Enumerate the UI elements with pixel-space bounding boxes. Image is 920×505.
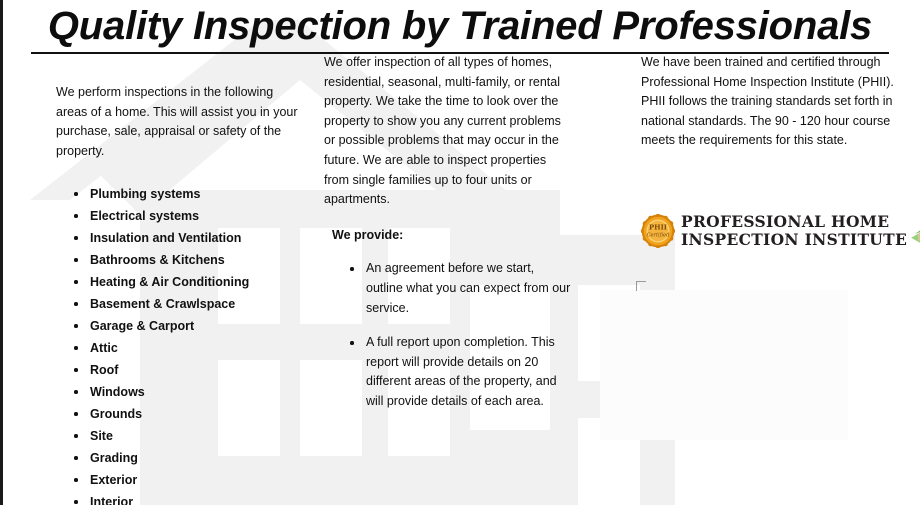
- we-provide-heading: We provide:: [332, 226, 574, 246]
- phii-logo-line-1: PROFESSIONAL HOME: [681, 213, 907, 231]
- list-item: Exterior: [56, 469, 306, 491]
- list-item: Heating & Air Conditioning: [56, 271, 306, 293]
- document-page: Quality Inspection by Trained Profession…: [0, 0, 920, 505]
- phii-logo-line-2: INSPECTION INSTITUTE: [681, 231, 907, 249]
- certification-seal-icon: PHII Certified: [641, 214, 675, 248]
- svg-text:PHII: PHII: [649, 224, 667, 232]
- left-intro-paragraph: We perform inspections in the following …: [56, 83, 306, 161]
- list-item: Windows: [56, 381, 306, 403]
- house-illustration-icon: [909, 214, 920, 248]
- list-item: Grounds: [56, 403, 306, 425]
- list-item: Plumbing systems: [56, 183, 306, 205]
- list-item: Electrical systems: [56, 205, 306, 227]
- svg-text:Certified: Certified: [647, 232, 670, 238]
- list-item: Bathrooms & Kitchens: [56, 249, 306, 271]
- list-item: Attic: [56, 337, 306, 359]
- page-title-block: Quality Inspection by Trained Profession…: [0, 2, 920, 54]
- list-item: Insulation and Ventilation: [56, 227, 306, 249]
- page-title: Quality Inspection by Trained Profession…: [30, 2, 890, 50]
- list-item: Garage & Carport: [56, 315, 306, 337]
- list-item: Site: [56, 425, 306, 447]
- corner-crop-mark: [636, 281, 646, 291]
- page-left-edge-rule: [0, 0, 3, 505]
- list-item: Grading: [56, 447, 306, 469]
- left-column: We perform inspections in the following …: [56, 83, 306, 505]
- we-provide-list: An agreement before we start, outline wh…: [324, 259, 574, 411]
- list-item: An agreement before we start, outline wh…: [324, 259, 574, 318]
- middle-column: We offer inspection of all types of home…: [324, 53, 574, 427]
- phii-logo: PHII Certified PROFESSIONAL HOME INSPECT…: [641, 206, 891, 256]
- inspection-areas-list: Plumbing systems Electrical systems Insu…: [56, 183, 306, 505]
- phii-logo-wordmark: PROFESSIONAL HOME INSPECTION INSTITUTE: [681, 213, 907, 249]
- ghost-panel: [600, 290, 848, 440]
- list-item: A full report upon completion. This repo…: [324, 333, 574, 411]
- middle-intro-paragraph: We offer inspection of all types of home…: [324, 53, 574, 210]
- right-intro-paragraph: We have been trained and certified throu…: [641, 53, 896, 151]
- list-item: Roof: [56, 359, 306, 381]
- list-item: Interior: [56, 491, 306, 505]
- list-item: Basement & Crawlspace: [56, 293, 306, 315]
- right-column: We have been trained and certified throu…: [641, 53, 896, 151]
